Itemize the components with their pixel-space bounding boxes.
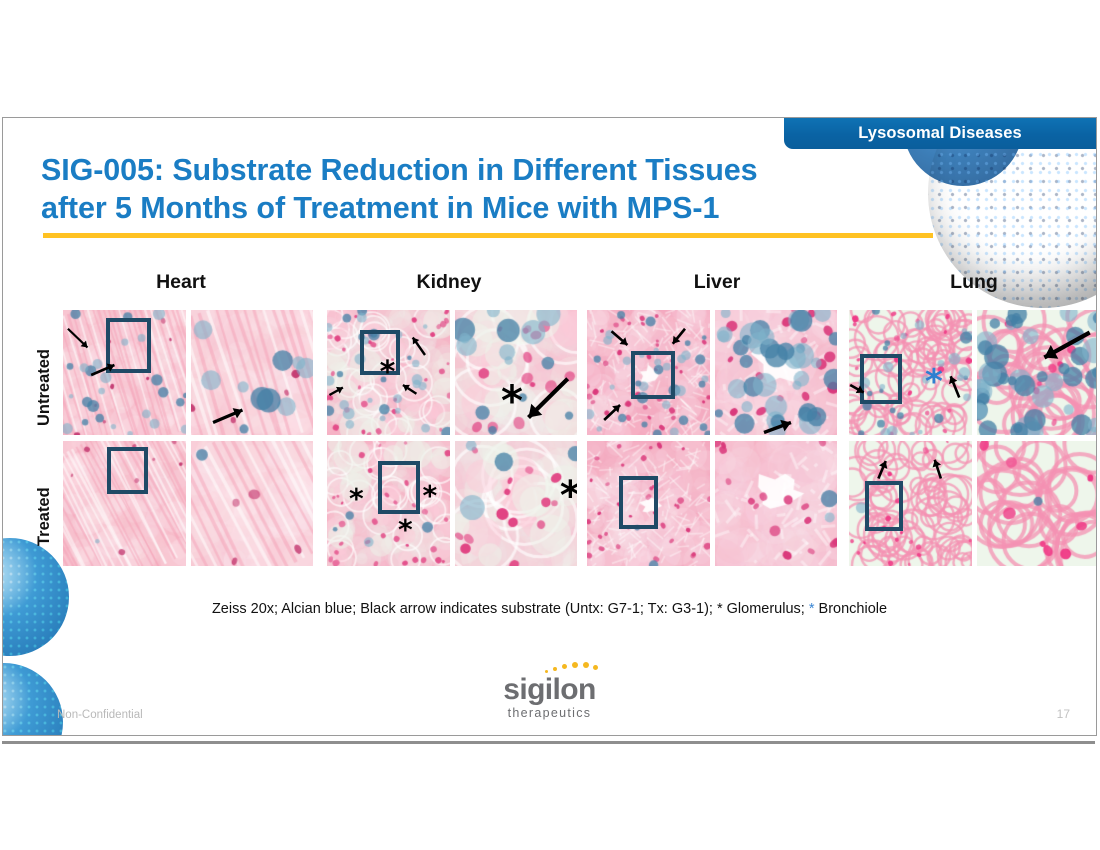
micrograph-image <box>715 441 838 566</box>
micrograph-panel-heart-untreated-high <box>191 310 314 435</box>
column-header-kidney: Kidney <box>416 271 481 294</box>
glomerulus-asterisk-marker: * <box>423 482 438 510</box>
micrograph-panel-liver-untreated-high <box>715 310 838 435</box>
substrate-arrow-icon <box>587 310 710 435</box>
micrograph-image <box>977 441 1098 566</box>
micrograph-panel-kidney-untreated-low: * <box>327 310 450 435</box>
micrograph-panel-heart-untreated-low <box>63 310 186 435</box>
column-header-lung: Lung <box>950 271 998 294</box>
micrograph-panel-kidney-treated-low: *** <box>327 441 450 566</box>
micrograph-panel-lung-treated-high <box>977 441 1098 566</box>
glomerulus-asterisk-marker: * <box>398 516 413 544</box>
micrograph-panel-lung-treated-low <box>849 441 972 566</box>
micrograph-panel-liver-treated-low <box>587 441 710 566</box>
roi-box <box>619 476 658 529</box>
logo-wordmark: sigilon <box>503 675 595 705</box>
logo-dot-icon <box>593 665 598 670</box>
logo-dot-icon <box>583 662 589 668</box>
caption-text-part2: Bronchiole <box>815 601 888 617</box>
micrograph-panel-heart-treated-high <box>191 441 314 566</box>
micrograph-panel-lung-untreated-low: * <box>849 310 972 435</box>
roi-box <box>107 447 147 493</box>
substrate-arrow-icon <box>715 310 838 435</box>
micrograph-panel-kidney-treated-high: * <box>455 441 578 566</box>
micrograph-image <box>455 441 578 566</box>
glomerulus-asterisk-marker: * <box>560 476 577 516</box>
micrograph-panel-heart-treated-low <box>63 441 186 566</box>
logo-dot-icon <box>562 664 567 669</box>
substrate-arrow-icon <box>455 310 578 435</box>
figure-caption: Zeiss 20x; Alcian blue; Black arrow indi… <box>3 601 1096 617</box>
substrate-arrow-icon <box>191 310 314 435</box>
substrate-arrow-icon <box>63 310 186 435</box>
section-banner: Lysosomal Diseases <box>784 118 1096 149</box>
column-header-heart: Heart <box>156 271 206 294</box>
logo-dot-icon <box>553 667 557 671</box>
page-title-line1: SIG-005: Substrate Reduction in Differen… <box>41 151 921 189</box>
page-title: SIG-005: Substrate Reduction in Differen… <box>41 151 921 228</box>
slide: Lysosomal Diseases SIG-005: Substrate Re… <box>2 117 1097 736</box>
micrograph-panel-lung-untreated-high <box>977 310 1098 435</box>
micrograph-panel-kidney-untreated-high: * <box>455 310 578 435</box>
company-logo: sigilon therapeutics <box>3 675 1096 720</box>
decorative-sphere-icon <box>2 538 69 656</box>
row-label-treated: Treated <box>35 487 54 546</box>
logo-tagline: therapeutics <box>3 706 1096 720</box>
caption-text-part1: Zeiss 20x; Alcian blue; Black arrow indi… <box>212 601 809 617</box>
column-header-liver: Liver <box>694 271 741 294</box>
slide-bottom-rule <box>2 741 1095 744</box>
substrate-arrow-icon <box>849 441 972 566</box>
roi-box <box>378 461 420 514</box>
micrograph-panel-liver-untreated-low <box>587 310 710 435</box>
substrate-arrow-icon <box>849 310 972 435</box>
substrate-arrow-icon <box>977 310 1098 435</box>
logo-wordmark-text: sigilon <box>503 673 595 706</box>
page-title-line2: after 5 Months of Treatment in Mice with… <box>41 189 921 227</box>
logo-dot-icon <box>572 662 578 668</box>
substrate-arrow-icon <box>327 310 450 435</box>
micrograph-image <box>191 441 314 566</box>
row-label-untreated: Untreated <box>35 349 54 426</box>
glomerulus-asterisk-marker: * <box>349 485 364 513</box>
micrograph-panel-liver-treated-high <box>715 441 838 566</box>
section-banner-label: Lysosomal Diseases <box>858 124 1022 143</box>
title-underline <box>43 233 933 238</box>
page-number: 17 <box>1057 707 1070 721</box>
